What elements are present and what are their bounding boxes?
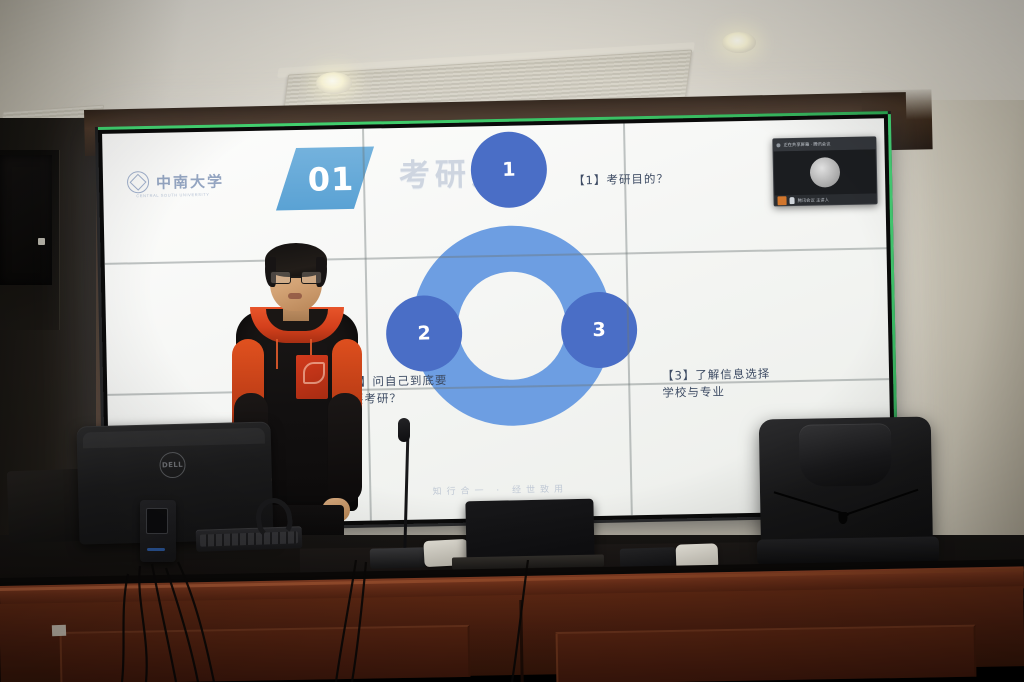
glasses-icon bbox=[270, 271, 322, 284]
diagram-caption-1: 【1】考研目的？ bbox=[573, 171, 669, 190]
university-logo: 中南大学 bbox=[127, 169, 224, 193]
mini-pc-led-icon bbox=[147, 548, 165, 551]
lecture-hall-scene: 中南大学 CENTRAL SOUTH UNIVERSITY 01 考研之前 1 … bbox=[0, 0, 1024, 682]
dell-logo-icon: DELL bbox=[159, 452, 186, 479]
glasses-bridge bbox=[291, 276, 301, 278]
executive-chair[interactable] bbox=[759, 417, 934, 566]
microphone-icon bbox=[789, 197, 794, 204]
avatar bbox=[810, 157, 841, 188]
mini-pc[interactable] bbox=[140, 500, 176, 562]
wall-speaker bbox=[0, 155, 52, 285]
meeting-header-text: 正在共享屏幕 · 腾讯会议 bbox=[783, 141, 830, 148]
diagram-node-1: 1 bbox=[470, 131, 548, 209]
downlight-icon bbox=[722, 32, 756, 53]
laptop[interactable] bbox=[465, 499, 594, 564]
chair-headrest bbox=[799, 423, 892, 487]
presenter-mouth bbox=[288, 293, 302, 299]
glasses-lens-left bbox=[270, 271, 291, 284]
chapter-number: 01 bbox=[299, 160, 364, 199]
hoodie-drawstring bbox=[276, 339, 278, 369]
side-equipment-panel bbox=[7, 469, 87, 544]
monitor-top-band bbox=[83, 428, 265, 449]
speaker-led-icon bbox=[38, 238, 45, 245]
glasses-lens-right bbox=[301, 271, 322, 284]
meeting-video-area bbox=[774, 149, 877, 195]
meeting-badge-icon bbox=[777, 196, 786, 205]
university-logo-subtext: CENTRAL SOUTH UNIVERSITY bbox=[136, 192, 209, 198]
meeting-overlay-window[interactable]: 正在共享屏幕 · 腾讯会议 腾讯会议 主讲人 bbox=[772, 136, 877, 206]
meeting-footer-text: 腾讯会议 主讲人 bbox=[797, 197, 829, 204]
university-logo-text: 中南大学 bbox=[156, 170, 224, 192]
chair-seam-knot bbox=[838, 512, 847, 524]
cable-bundle bbox=[0, 560, 1024, 682]
meeting-status-icon bbox=[776, 143, 780, 147]
presenter-sleeve-right bbox=[328, 393, 362, 503]
meeting-overlay-footer: 腾讯会议 主讲人 bbox=[774, 193, 876, 206]
mini-pc-drive-slot bbox=[146, 508, 168, 534]
university-logo-icon bbox=[127, 171, 149, 193]
screen-seam bbox=[362, 129, 372, 521]
microphone-head-icon bbox=[398, 418, 410, 442]
downlight-icon bbox=[316, 72, 352, 94]
hoodie-chest-logo bbox=[296, 355, 328, 399]
